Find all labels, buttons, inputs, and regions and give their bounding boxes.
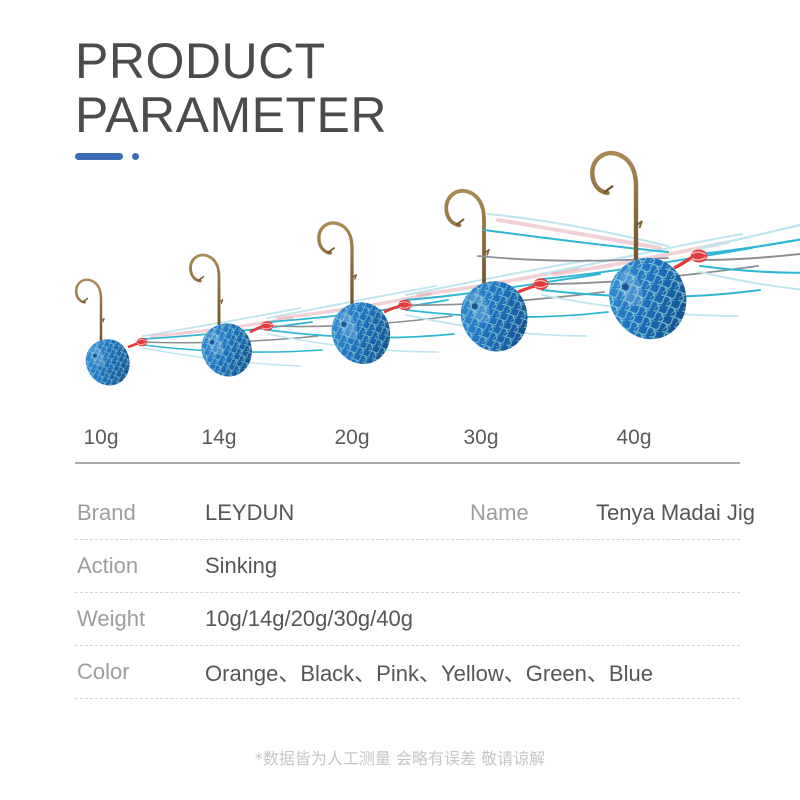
table-row: Weight 10g/14g/20g/30g/40g — [75, 593, 740, 646]
jig-item-20g — [319, 223, 608, 373]
page-header: PRODUCT PARAMETER — [75, 34, 715, 142]
weight-label-row: 10g 14g 20g 30g 40g — [0, 422, 800, 454]
spec-table: Brand LEYDUN Name Tenya Madai Jig Action… — [75, 487, 740, 699]
spec-value-brand: LEYDUN — [205, 500, 294, 526]
spec-value-action: Sinking — [205, 553, 277, 579]
measurement-disclaimer: *数据皆为人工测量 会略有误差 敬请谅解 — [0, 745, 800, 769]
page-title-line-1: PRODUCT — [75, 34, 715, 88]
weight-label-40g: 40g — [616, 422, 651, 454]
table-row: Action Sinking — [75, 540, 740, 593]
spec-label-color: Color — [77, 659, 130, 685]
spec-label-action: Action — [77, 553, 138, 579]
spec-label-weight: Weight — [77, 606, 145, 632]
spec-value-weight: 10g/14g/20g/30g/40g — [205, 606, 413, 632]
spec-label-brand: Brand — [77, 500, 136, 526]
section-divider — [75, 462, 740, 464]
weight-label-10g: 10g — [83, 422, 118, 454]
jig-item-10g — [76, 280, 322, 392]
jig-lineup-illustration — [0, 150, 800, 430]
table-row: Color Orange、Black、Pink、Yellow、Green、Blu… — [75, 646, 740, 699]
spec-value-name: Tenya Madai Jig — [596, 500, 755, 526]
spec-label-name: Name — [470, 500, 529, 526]
spec-value-color: Orange、Black、Pink、Yellow、Green、Blue — [205, 656, 653, 688]
jig-item-30g — [446, 191, 760, 362]
table-row: Brand LEYDUN Name Tenya Madai Jig — [75, 487, 740, 540]
weight-label-20g: 20g — [334, 422, 369, 454]
weight-label-14g: 14g — [201, 422, 236, 454]
page-title-line-2: PARAMETER — [75, 88, 715, 142]
weight-label-30g: 30g — [463, 422, 498, 454]
jig-item-14g — [190, 255, 454, 384]
product-image-strip — [0, 150, 800, 430]
